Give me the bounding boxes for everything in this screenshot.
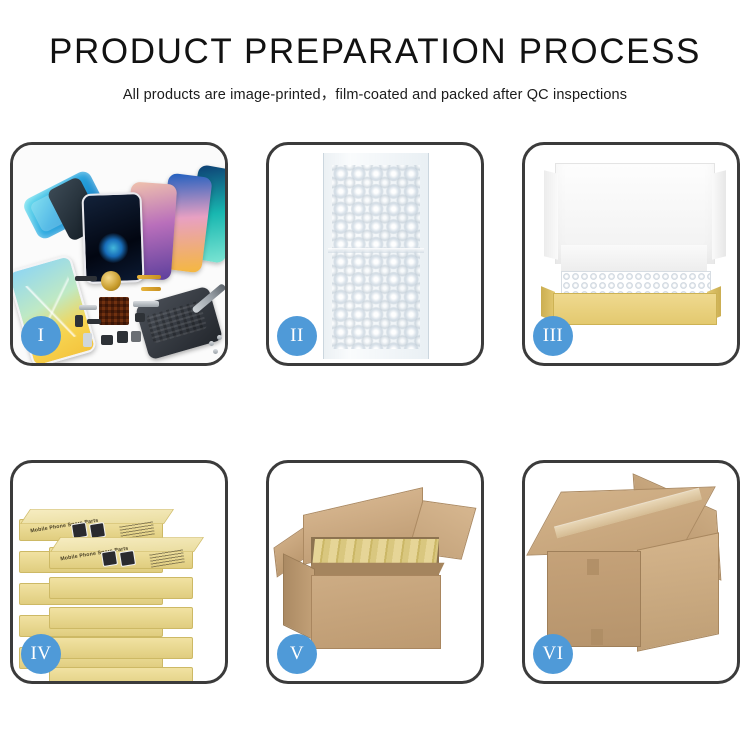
step-badge-2: II — [277, 316, 317, 356]
part-flex-cable-icon — [137, 275, 161, 279]
page-title: PRODUCT PREPARATION PROCESS — [0, 34, 750, 71]
part-camera-icon — [135, 313, 145, 322]
part-flex-cable-2-icon — [141, 287, 161, 291]
part-speaker-icon — [117, 331, 128, 343]
screw-1-icon — [209, 341, 214, 346]
chip-grid-icon — [99, 297, 129, 325]
step-panel-2[interactable]: II — [266, 142, 484, 366]
part-connector-icon — [75, 276, 97, 281]
inner-box-cavity — [561, 245, 707, 271]
part-vibrator-icon — [101, 335, 113, 345]
screw-3-icon — [213, 349, 218, 354]
box-screen-image-2a — [101, 550, 118, 567]
step-panel-1[interactable]: I — [10, 142, 228, 366]
sealed-carton-side-face — [637, 532, 719, 651]
part-button-icon — [75, 315, 83, 327]
step-panel-3[interactable]: III — [522, 142, 740, 366]
step-panel-4[interactable]: Mobile Phone Spare Parts Mobile Phone Sp… — [10, 460, 228, 684]
stacked-box-8 — [49, 607, 193, 629]
stacked-box-7 — [49, 577, 193, 599]
speaker-coil-icon — [101, 271, 121, 291]
part-bracket-icon — [79, 305, 97, 310]
step-panel-6[interactable]: VI — [522, 460, 740, 684]
step-badge-1: I — [21, 316, 61, 356]
inner-box-front-icon — [553, 293, 717, 325]
step-panel-5[interactable]: V — [266, 460, 484, 684]
part-sim-tray-icon — [83, 333, 92, 347]
bubble-pattern-offset — [332, 165, 420, 349]
step-badge-6: VI — [533, 634, 573, 674]
part-module-icon — [131, 331, 141, 342]
carton-seam-tab-bottom — [591, 629, 603, 645]
box-screen-image-2b — [119, 550, 136, 567]
stacked-box-10 — [49, 667, 193, 681]
carton-seam-tab-top — [587, 559, 599, 575]
process-step-grid: I II III Mobile — [10, 142, 740, 684]
step-badge-3: III — [533, 316, 573, 356]
carton-front-face — [311, 575, 441, 649]
stacked-box-6: Mobile Phone Spare Parts — [49, 547, 193, 569]
step-badge-5: V — [277, 634, 317, 674]
stacked-box-9 — [49, 637, 193, 659]
bubble-wrap-bag-icon — [323, 153, 429, 359]
page-subtitle: All products are image-printed，film-coat… — [0, 83, 750, 104]
part-antenna-icon — [133, 301, 159, 307]
page-header: PRODUCT PREPARATION PROCESS All products… — [0, 0, 750, 104]
screw-2-icon — [217, 335, 222, 340]
step-badge-4: IV — [21, 634, 61, 674]
part-clip-icon — [87, 319, 101, 324]
bag-seal-line — [328, 248, 424, 253]
